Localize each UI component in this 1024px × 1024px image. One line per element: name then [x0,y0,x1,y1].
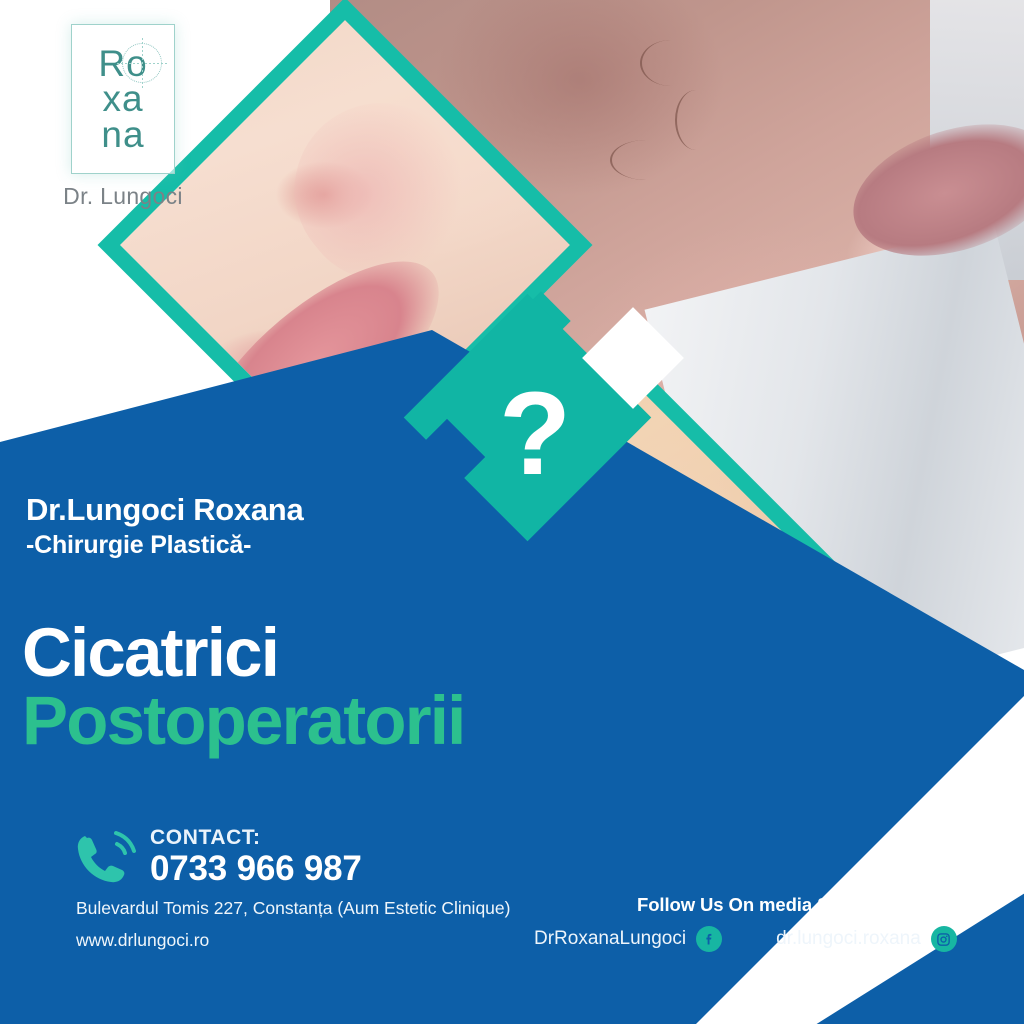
logo-line-2: xa [102,81,143,117]
contact-text: CONTACT: 0733 966 987 [150,824,362,894]
facebook-handle[interactable]: DrRoxanaLungoci [534,928,686,950]
suture-thread [675,90,717,150]
instagram-icon[interactable] [931,926,957,952]
poster-canvas: ? Ro xa na Dr. Lungoci Dr.Lungoci Roxana… [0,0,1024,1024]
doctor-specialty: -Chirurgie Plastică- [26,531,303,560]
instagram-handle[interactable]: dr.lungoci.roxana [776,928,921,950]
social-handles-row: DrRoxanaLungoci dr.lungoci.roxana [534,926,974,952]
doctor-name: Dr.Lungoci Roxana [26,493,303,527]
headline-line-1: Cicatrici [22,620,465,686]
logo-frame: Ro xa na [71,24,175,174]
contact-address: Bulevardul Tomis 227, Constanța (Aum Est… [76,898,510,919]
phone-icon [72,828,136,894]
logo-subtitle: Dr. Lungoci [34,183,212,210]
contact-label: CONTACT: [150,826,362,849]
contact-block: CONTACT: 0733 966 987 [72,824,362,894]
contact-website[interactable]: www.drlungoci.ro [76,930,209,951]
doctor-name-block: Dr.Lungoci Roxana -Chirurgie Plastică- [26,493,303,560]
contact-phone[interactable]: 0733 966 987 [150,849,362,888]
social-block: Follow Us On media Social DrRoxanaLungoc… [534,894,974,952]
brand-logo: Ro xa na Dr. Lungoci [34,24,212,210]
logo-target-ring-icon [122,43,162,83]
suture-thread [610,140,682,180]
suture-thread [640,40,702,86]
logo-line-3: na [101,117,144,153]
headline-block: Cicatrici Postoperatorii [22,620,465,757]
social-title: Follow Us On media Social [534,894,974,916]
question-mark-glyph: ? [490,375,580,505]
headline-line-2: Postoperatorii [22,686,465,756]
facebook-icon[interactable] [696,926,722,952]
